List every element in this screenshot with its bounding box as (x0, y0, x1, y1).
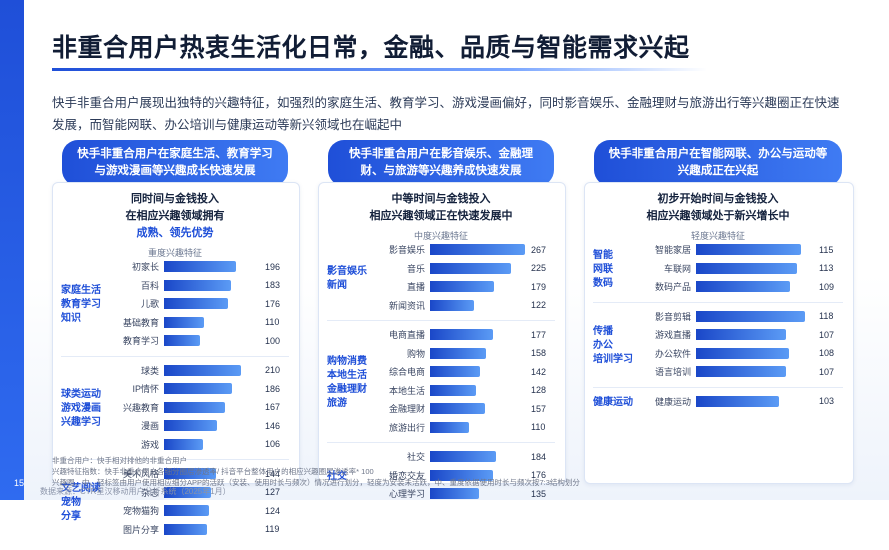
bar-track (696, 244, 815, 255)
bar-track (696, 366, 815, 377)
bar-track (164, 365, 261, 376)
bar-label: 初家长 (107, 260, 164, 273)
bar-label: 本地生活 (373, 384, 430, 397)
bar-value: 118 (815, 311, 843, 321)
bar-row: 基础教育 110 (107, 315, 289, 330)
bar-fill (164, 261, 236, 272)
card-3-group-1-label: 智能 网联 数码 (593, 249, 639, 291)
bar-label: 百科 (107, 279, 164, 292)
bar-label: 基础教育 (107, 316, 164, 329)
card-1-group-2: 球类运动 游戏漫画 兴趣学习 球类 210 IP情怀 186 (61, 363, 289, 456)
bar-value: 267 (527, 245, 555, 255)
bar-row: 电商直播 177 (373, 327, 555, 342)
bar-value: 122 (527, 300, 555, 310)
bar-row: 综合电商 142 (373, 364, 555, 379)
page-subtitle: 快手非重合用户展现出独特的兴趣特征，如强烈的家庭生活、教育学习、游戏漫画偏好，同… (52, 92, 842, 136)
bar-value: 106 (261, 439, 289, 449)
card-3-group-1-bars: 智能家居 115 车联网 113 数码产品 109 (639, 242, 843, 298)
card-3-section-title: 初步开始时间与金钱投入 相应兴趣领域处于新兴增长中 (593, 191, 843, 225)
bar-row: 初家长 196 (107, 259, 289, 274)
bar-value: 186 (261, 384, 289, 394)
bar-row: 兴趣教育 167 (107, 400, 289, 415)
card-3-inner: 初步开始时间与金钱投入 相应兴趣领域处于新兴增长中 轻度兴趣特征 智能 网联 数… (585, 183, 853, 422)
bar-value: 135 (527, 489, 555, 499)
bar-fill (696, 348, 789, 359)
footnotes: 非重合用户：快手相对排他的非重合用户 兴趣特征指数：快手非重合用户各细分圈层渗透… (52, 455, 842, 488)
divider (593, 387, 843, 388)
card-1-group-1-bars: 初家长 196 百科 183 儿歌 176 (107, 259, 289, 352)
card-3-header: 快手非重合用户在智能网联、办公与运动等兴趣成正在兴起 (594, 140, 842, 186)
bar-label: 影音娱乐 (373, 243, 430, 256)
bar-track (164, 298, 261, 309)
bar-track (164, 420, 261, 431)
bar-value: 146 (261, 421, 289, 431)
bar-label: 电商直播 (373, 328, 430, 341)
bar-value: 124 (261, 506, 289, 516)
bar-row: 宠物猫狗 124 (107, 503, 289, 518)
divider (327, 442, 555, 443)
bar-fill (164, 505, 209, 516)
card-3-group-3-label: 健康运动 (593, 396, 639, 410)
card-2-group-1-bars: 影音娱乐 267 音乐 225 直播 179 (373, 242, 555, 316)
bar-value: 109 (815, 282, 843, 292)
bar-track (164, 524, 261, 535)
card-2-group-1-label: 影音娱乐 新闻 (327, 265, 373, 293)
bar-value: 176 (261, 299, 289, 309)
card-3-group-2-label: 传播 办公 培训学习 (593, 325, 639, 367)
card-3: 初步开始时间与金钱投入 相应兴趣领域处于新兴增长中 轻度兴趣特征 智能 网联 数… (584, 182, 854, 484)
bar-value: 183 (261, 280, 289, 290)
card-2-group-2-bars: 电商直播 177 购物 158 综合电商 142 (373, 327, 555, 438)
bar-fill (430, 329, 493, 340)
bar-label: 影音剪辑 (639, 310, 696, 323)
card-1-group-2-bars: 球类 210 IP情怀 186 兴趣教育 167 (107, 363, 289, 456)
slide-page: 非重合用户热衷生活化日常，金融、品质与智能需求兴起 快手非重合用户展现出独特的兴… (0, 0, 889, 500)
bar-value: 179 (527, 282, 555, 292)
page-title: 非重合用户热衷生活化日常，金融、品质与智能需求兴起 (52, 28, 690, 64)
card-2: 中等时间与金钱投入 相应兴趣领域正在快速发展中 中度兴趣特征 影音娱乐 新闻 影… (318, 182, 566, 484)
card-3-group-2-bars: 影音剪辑 118 游戏直播 107 办公软件 108 (639, 309, 843, 383)
bar-track (430, 385, 527, 396)
card-1-header-wrap: 快手非重合用户在家庭生活、教育学习与游戏漫画等兴趣成长快速发展 (62, 140, 288, 186)
bar-fill (696, 329, 786, 340)
bar-fill (430, 281, 494, 292)
bar-track (164, 505, 261, 516)
card-1: 同时间与金钱投入 在相应兴趣领域拥有 成熟、领先优势 重度兴趣特征 家庭生活 教… (52, 182, 300, 484)
card-3-group-2: 传播 办公 培训学习 影音剪辑 118 游戏直播 107 (593, 309, 843, 383)
bar-label: 图片分享 (107, 523, 164, 536)
bar-row: 图片分享 119 (107, 522, 289, 537)
bar-label: 数码产品 (639, 280, 696, 293)
bar-track (430, 329, 527, 340)
card-3-group-1: 智能 网联 数码 智能家居 115 车联网 113 (593, 242, 843, 298)
card-1-group-1: 家庭生活 教育学习 知识 初家长 196 百科 183 (61, 259, 289, 352)
card-3-group-3-bars: 健康运动 103 (639, 394, 843, 413)
card-2-section-title-text: 中等时间与金钱投入 相应兴趣领域正在快速发展中 (370, 193, 513, 222)
bar-fill (430, 263, 511, 274)
bar-fill (430, 422, 469, 433)
card-2-section-title: 中等时间与金钱投入 相应兴趣领域正在快速发展中 (327, 191, 555, 225)
title-underline (52, 68, 707, 71)
bar-value: 103 (815, 396, 843, 406)
bar-label: 购物 (373, 347, 430, 360)
bar-fill (696, 281, 790, 292)
bar-label: 教育学习 (107, 334, 164, 347)
bar-row: 儿歌 176 (107, 296, 289, 311)
bar-fill (430, 348, 486, 359)
left-accent-bar (0, 0, 24, 500)
bar-track (430, 422, 527, 433)
bar-track (430, 244, 527, 255)
bar-row: 金融理财 157 (373, 401, 555, 416)
bar-row: 教育学习 100 (107, 333, 289, 348)
card-3-header-wrap: 快手非重合用户在智能网联、办公与运动等兴趣成正在兴起 (594, 140, 842, 186)
bar-fill (164, 280, 231, 291)
bar-label: 健康运动 (639, 395, 696, 408)
bar-label: 球类 (107, 364, 164, 377)
bar-row: 健康运动 103 (639, 394, 843, 409)
bar-label: 车联网 (639, 262, 696, 275)
bar-track (696, 311, 815, 322)
bar-fill (430, 488, 479, 499)
bar-track (430, 366, 527, 377)
divider (593, 302, 843, 303)
card-3-axis-label: 轻度兴趣特征 (593, 229, 843, 242)
bar-row: 旅游出行 110 (373, 420, 555, 435)
bar-label: 音乐 (373, 262, 430, 275)
bar-row: IP情怀 186 (107, 381, 289, 396)
bar-row: 球类 210 (107, 363, 289, 378)
bar-label: 兴趣教育 (107, 401, 164, 414)
card-1-section-title: 同时间与金钱投入 在相应兴趣领域拥有 成熟、领先优势 (61, 191, 289, 242)
bar-track (696, 281, 815, 292)
bar-row: 音乐 225 (373, 261, 555, 276)
bar-fill (164, 317, 204, 328)
bar-value: 210 (261, 365, 289, 375)
bar-fill (430, 403, 485, 414)
bar-track (164, 335, 261, 346)
card-1-section-title-pre: 同时间与金钱投入 在相应兴趣领域拥有 (126, 193, 225, 222)
card-1-section-title-highlight: 成熟、领先优势 (137, 227, 214, 239)
bar-fill (696, 244, 801, 255)
divider (327, 320, 555, 321)
bar-row: 心理学习 135 (373, 486, 555, 501)
bar-value: 225 (527, 263, 555, 273)
bar-fill (696, 263, 797, 274)
bar-track (696, 396, 815, 407)
card-2-axis-label: 中度兴趣特征 (327, 229, 555, 242)
bar-value: 107 (815, 367, 843, 377)
bar-track (164, 402, 261, 413)
bar-track (430, 263, 527, 274)
card-1-header: 快手非重合用户在家庭生活、教育学习与游戏漫画等兴趣成长快速发展 (62, 140, 288, 186)
bar-fill (430, 300, 474, 311)
bar-label: 游戏直播 (639, 328, 696, 341)
card-2-group-2-label: 购物消费 本地生活 金融理财 旅游 (327, 355, 373, 411)
bar-row: 新闻资讯 122 (373, 298, 555, 313)
bar-value: 127 (261, 487, 289, 497)
footnote-2: 兴趣特征指数：快手非重合用户各细分圈层渗透率/ 抖音平台整体用户的相应兴趣圈层渗… (52, 466, 842, 477)
bar-value: 128 (527, 385, 555, 395)
bar-row: 游戏 106 (107, 437, 289, 452)
bar-fill (696, 366, 786, 377)
bar-fill (164, 298, 228, 309)
bar-fill (430, 385, 476, 396)
bar-row: 语言培训 107 (639, 364, 843, 379)
bar-value: 196 (261, 262, 289, 272)
bar-value: 142 (527, 367, 555, 377)
bar-label: 金融理财 (373, 402, 430, 415)
bar-track (696, 329, 815, 340)
bar-label: 儿歌 (107, 297, 164, 310)
bar-label: IP情怀 (107, 382, 164, 395)
bar-track (430, 348, 527, 359)
source-note: 数据来源：CTR星汉移动用户分析系统（2025年1月） (40, 486, 231, 497)
bar-fill (430, 244, 525, 255)
bar-label: 语言培训 (639, 365, 696, 378)
bar-value: 110 (261, 317, 289, 327)
bar-label: 直播 (373, 280, 430, 293)
bar-value: 119 (261, 524, 289, 534)
bar-row: 购物 158 (373, 346, 555, 361)
card-3-group-3: 健康运动 健康运动 103 (593, 394, 843, 413)
bar-track (164, 280, 261, 291)
bar-value: 167 (261, 402, 289, 412)
bar-fill (164, 383, 232, 394)
bar-row: 漫画 146 (107, 418, 289, 433)
bar-track (164, 317, 261, 328)
bar-track (430, 281, 527, 292)
bar-row: 影音娱乐 267 (373, 242, 555, 257)
bar-track (430, 300, 527, 311)
card-2-group-2: 购物消费 本地生活 金融理财 旅游 电商直播 177 购物 158 (327, 327, 555, 438)
bar-label: 综合电商 (373, 365, 430, 378)
bar-value: 100 (261, 336, 289, 346)
bar-value: 158 (527, 348, 555, 358)
bar-value: 115 (815, 245, 843, 255)
bar-label: 游戏 (107, 438, 164, 451)
bar-label: 漫画 (107, 419, 164, 432)
divider (61, 356, 289, 357)
bar-fill (164, 335, 200, 346)
card-1-group-1-label: 家庭生活 教育学习 知识 (61, 284, 107, 326)
card-2-group-1: 影音娱乐 新闻 影音娱乐 267 音乐 225 (327, 242, 555, 316)
bar-row: 智能家居 115 (639, 242, 843, 257)
bar-fill (696, 311, 805, 322)
bar-value: 110 (527, 422, 555, 432)
card-1-axis-label: 重度兴趣特征 (61, 246, 289, 259)
bar-value: 113 (815, 263, 843, 273)
bar-row: 办公软件 108 (639, 346, 843, 361)
bar-label: 智能家居 (639, 243, 696, 256)
bar-track (430, 403, 527, 414)
bar-row: 百科 183 (107, 278, 289, 293)
bar-track (164, 261, 261, 272)
bar-fill (164, 524, 207, 535)
footnote-1: 非重合用户：快手相对排他的非重合用户 (52, 455, 842, 466)
bar-value: 107 (815, 330, 843, 340)
bar-row: 数码产品 109 (639, 279, 843, 294)
bar-row: 本地生活 128 (373, 383, 555, 398)
bar-fill (430, 366, 480, 377)
bar-track (164, 383, 261, 394)
bar-fill (164, 365, 241, 376)
bar-track (164, 439, 261, 450)
bar-row: 直播 179 (373, 279, 555, 294)
bar-label: 心理学习 (373, 487, 430, 500)
bar-fill (164, 439, 203, 450)
bar-row: 车联网 113 (639, 261, 843, 276)
bar-fill (164, 402, 225, 413)
card-3-section-title-text: 初步开始时间与金钱投入 相应兴趣领域处于新兴增长中 (647, 193, 790, 222)
page-number: 15 (14, 478, 24, 488)
bar-row: 游戏直播 107 (639, 327, 843, 342)
card-1-group-2-label: 球类运动 游戏漫画 兴趣学习 (61, 388, 107, 430)
bar-track (696, 348, 815, 359)
bar-row: 影音剪辑 118 (639, 309, 843, 324)
bar-fill (696, 396, 779, 407)
bar-track (696, 263, 815, 274)
bar-value: 157 (527, 404, 555, 414)
card-2-header: 快手非重合用户在影音娱乐、金融理财、与旅游等兴趣养成快速发展 (328, 140, 554, 186)
bar-fill (164, 420, 217, 431)
bar-value: 108 (815, 348, 843, 358)
bar-label: 宠物猫狗 (107, 504, 164, 517)
bar-label: 办公软件 (639, 347, 696, 360)
bar-track (430, 488, 527, 499)
bar-label: 旅游出行 (373, 421, 430, 434)
bar-label: 新闻资讯 (373, 299, 430, 312)
bar-value: 177 (527, 330, 555, 340)
